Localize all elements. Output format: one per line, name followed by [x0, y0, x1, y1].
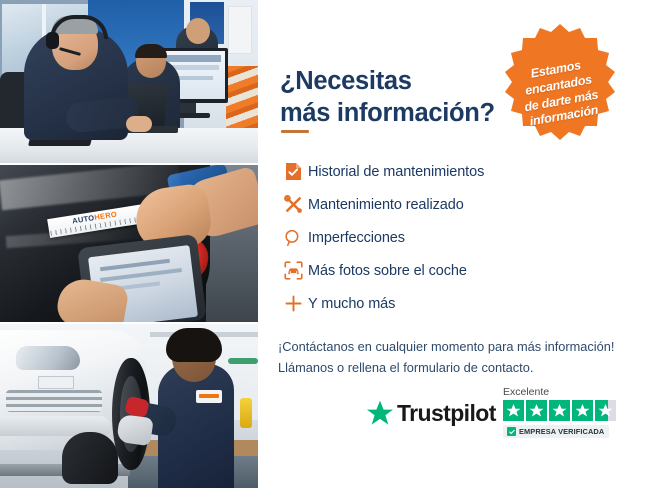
- document-check-icon: [278, 162, 308, 181]
- headline-line-1: ¿Necesitas: [280, 67, 412, 95]
- trustpilot-wordmark: Trustpilot: [397, 400, 496, 427]
- accent-divider: [281, 130, 309, 133]
- list-item: Más fotos sobre el coche: [278, 254, 618, 287]
- plus-icon: [278, 294, 308, 313]
- photo3-fluid-bottle: [240, 398, 252, 428]
- feature-list: Historial de mantenimientos Mantenimient…: [278, 155, 618, 320]
- star-partial: [595, 400, 616, 421]
- headline-line-2: más información?: [280, 97, 510, 129]
- photo3-green-hose: [228, 358, 258, 364]
- list-item: Historial de mantenimientos: [278, 155, 618, 188]
- trustpilot-widget[interactable]: Trustpilot Excelente: [366, 386, 650, 448]
- list-item: Imperfecciones: [278, 221, 618, 254]
- trustpilot-star-icon: [366, 400, 394, 427]
- wrench-screwdriver-icon: [278, 195, 308, 214]
- page-title: ¿Necesitas más información?: [280, 65, 510, 129]
- photo3-mechanic-hair: [166, 328, 222, 362]
- star-filled: [572, 400, 593, 421]
- verified-label: EMPRESA VERIFICADA: [519, 427, 604, 436]
- status-badge: Estamos encantados de darte más informac…: [499, 22, 621, 144]
- content-panel: ¿Necesitas más información? Estamos enca…: [258, 0, 650, 488]
- workshop-wheel-check-photo: [0, 324, 258, 488]
- photo-collage: AUTOHERO: [0, 0, 258, 488]
- contact-line-2: Llámanos o rellena el formulario de cont…: [278, 358, 634, 379]
- trustpilot-rating: Excelente: [503, 386, 650, 440]
- photo3-headlight: [16, 346, 80, 370]
- contact-text: ¡Contáctanos en cualquier momento para m…: [278, 337, 634, 378]
- feature-label: Historial de mantenimientos: [308, 164, 484, 180]
- feature-label: Y mucho más: [308, 296, 395, 312]
- photo1-agent-1-hand: [126, 116, 152, 132]
- verified-business-badge: EMPRESA VERIFICADA: [503, 425, 609, 438]
- photo3-uniform-logo: [196, 390, 222, 403]
- list-item: Y mucho más: [278, 287, 618, 320]
- headset-icon: [488, 21, 511, 44]
- feature-label: Imperfecciones: [308, 230, 405, 246]
- photo1-agent-3-head: [186, 18, 210, 44]
- star-filled: [526, 400, 547, 421]
- list-item: Mantenimiento realizado: [278, 188, 618, 221]
- star-rating: [503, 400, 650, 421]
- photo3-rear-tyre: [62, 432, 118, 484]
- call-centre-agents-photo: [0, 0, 258, 163]
- photo1-headset-earcup: [46, 32, 59, 49]
- promo-banner: AUTOHERO: [0, 0, 650, 488]
- check-icon: [507, 427, 516, 436]
- star-filled: [503, 400, 524, 421]
- photo1-wall-notice: [228, 6, 252, 54]
- photo3-number-plate: [38, 376, 74, 389]
- star-filled: [549, 400, 570, 421]
- magnifier-icon: [278, 229, 308, 247]
- feature-label: Mantenimiento realizado: [308, 197, 464, 213]
- photo1-agent-2-hair: [135, 44, 167, 58]
- trustpilot-logo[interactable]: Trustpilot: [366, 400, 496, 427]
- feature-label: Más fotos sobre el coche: [308, 263, 467, 279]
- photo3-grille: [6, 390, 102, 412]
- vehicle-inspection-ruler-photo: AUTOHERO: [0, 165, 258, 322]
- car-scan-icon: [278, 261, 308, 280]
- rating-label: Excelente: [503, 386, 650, 398]
- contact-line-1: ¡Contáctanos en cualquier momento para m…: [278, 337, 634, 358]
